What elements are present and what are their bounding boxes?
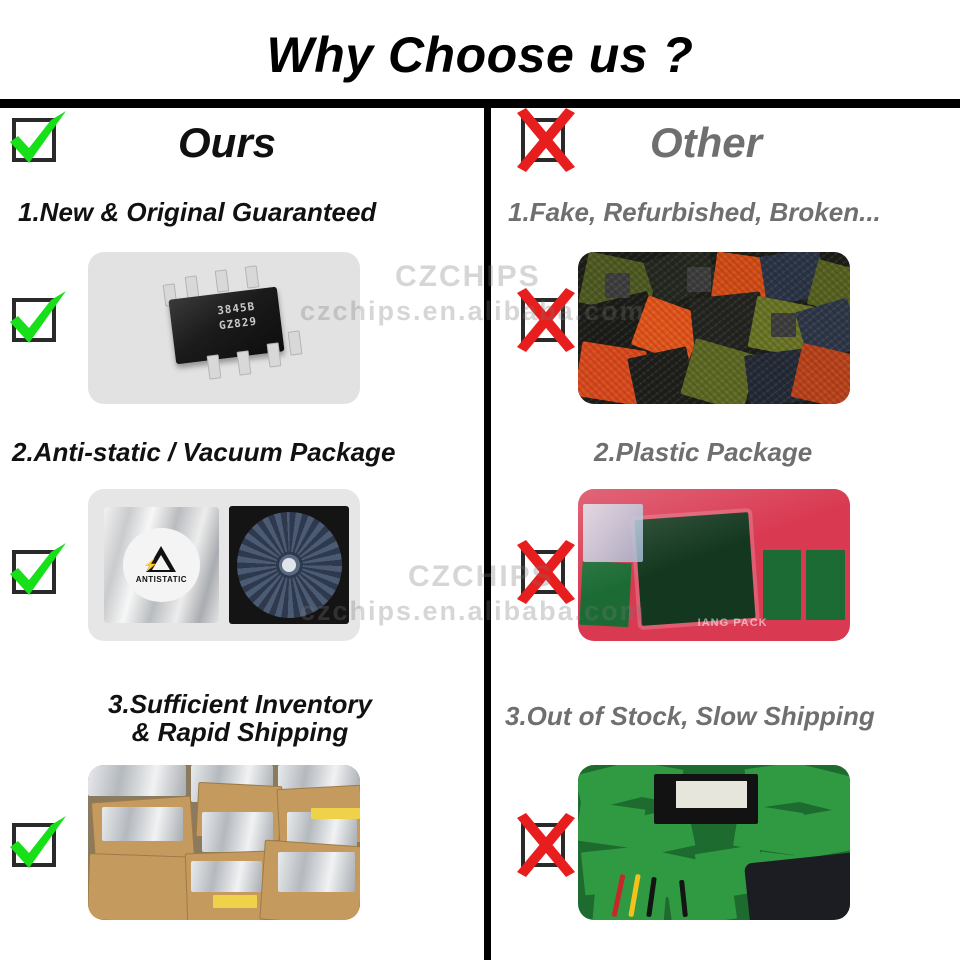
header-divider (0, 99, 960, 108)
other-cross-icon-2 (513, 540, 579, 606)
ours-header-check-icon (4, 108, 70, 174)
photo-content (578, 765, 850, 920)
new-original-chip-photo: 3845B GZ829 (88, 252, 360, 404)
antistatic-label-disc: ⚡ ANTISTATIC (123, 528, 201, 602)
antistatic-text: ANTISTATIC (136, 575, 187, 584)
scrap-chips-pile-photo (578, 252, 850, 404)
ours-check-icon-2 (4, 540, 70, 606)
other-caption-3: 3.Out of Stock, Slow Shipping (505, 702, 875, 730)
antistatic-bag: ⚡ ANTISTATIC (104, 507, 218, 623)
ours-caption-1: 1.New & Original Guaranteed (18, 198, 376, 226)
column-header-other: Other (650, 108, 762, 178)
component-reel-tray (229, 506, 349, 625)
out-of-stock-scrap-photo (578, 765, 850, 920)
photo-content: ⚡ ANTISTATIC (88, 489, 360, 641)
ours-caption-3-line-1: 3.Sufficient Inventory (60, 690, 420, 718)
photo-content: 3845B GZ829 (88, 252, 360, 404)
photo-content: IANG PACK (578, 489, 850, 641)
column-divider (484, 105, 491, 960)
ours-caption-3-line-2: & Rapid Shipping (60, 718, 420, 746)
photo-content (578, 252, 850, 404)
module-label (676, 781, 747, 809)
ours-check-icon-3 (4, 813, 70, 879)
other-cross-icon-1 (513, 288, 579, 354)
stocked-boxes-photo (88, 765, 360, 920)
column-header-ours: Ours (178, 108, 276, 178)
other-cross-icon-3 (513, 813, 579, 879)
other-caption-1: 1.Fake, Refurbished, Broken... (508, 198, 881, 226)
plastic-package-photo: IANG PACK (578, 489, 850, 641)
photo-content (88, 765, 360, 920)
other-header-cross-icon (513, 108, 579, 174)
plastic-bag-text: IANG PACK (698, 617, 768, 629)
why-choose-us-comparison-graphic: Why Choose us ? Ours Other 1.New & Origi… (0, 0, 960, 960)
ours-check-icon-1 (4, 288, 70, 354)
lightning-bolt-icon: ⚡ (143, 559, 158, 571)
other-caption-2: 2.Plastic Package (594, 438, 812, 466)
page-title: Why Choose us ? (0, 26, 960, 84)
antistatic-vacuum-package-photo: ⚡ ANTISTATIC (88, 489, 360, 641)
ours-caption-3: 3.Sufficient Inventory & Rapid Shipping (60, 690, 420, 746)
ours-caption-2: 2.Anti-static / Vacuum Package (12, 438, 395, 466)
